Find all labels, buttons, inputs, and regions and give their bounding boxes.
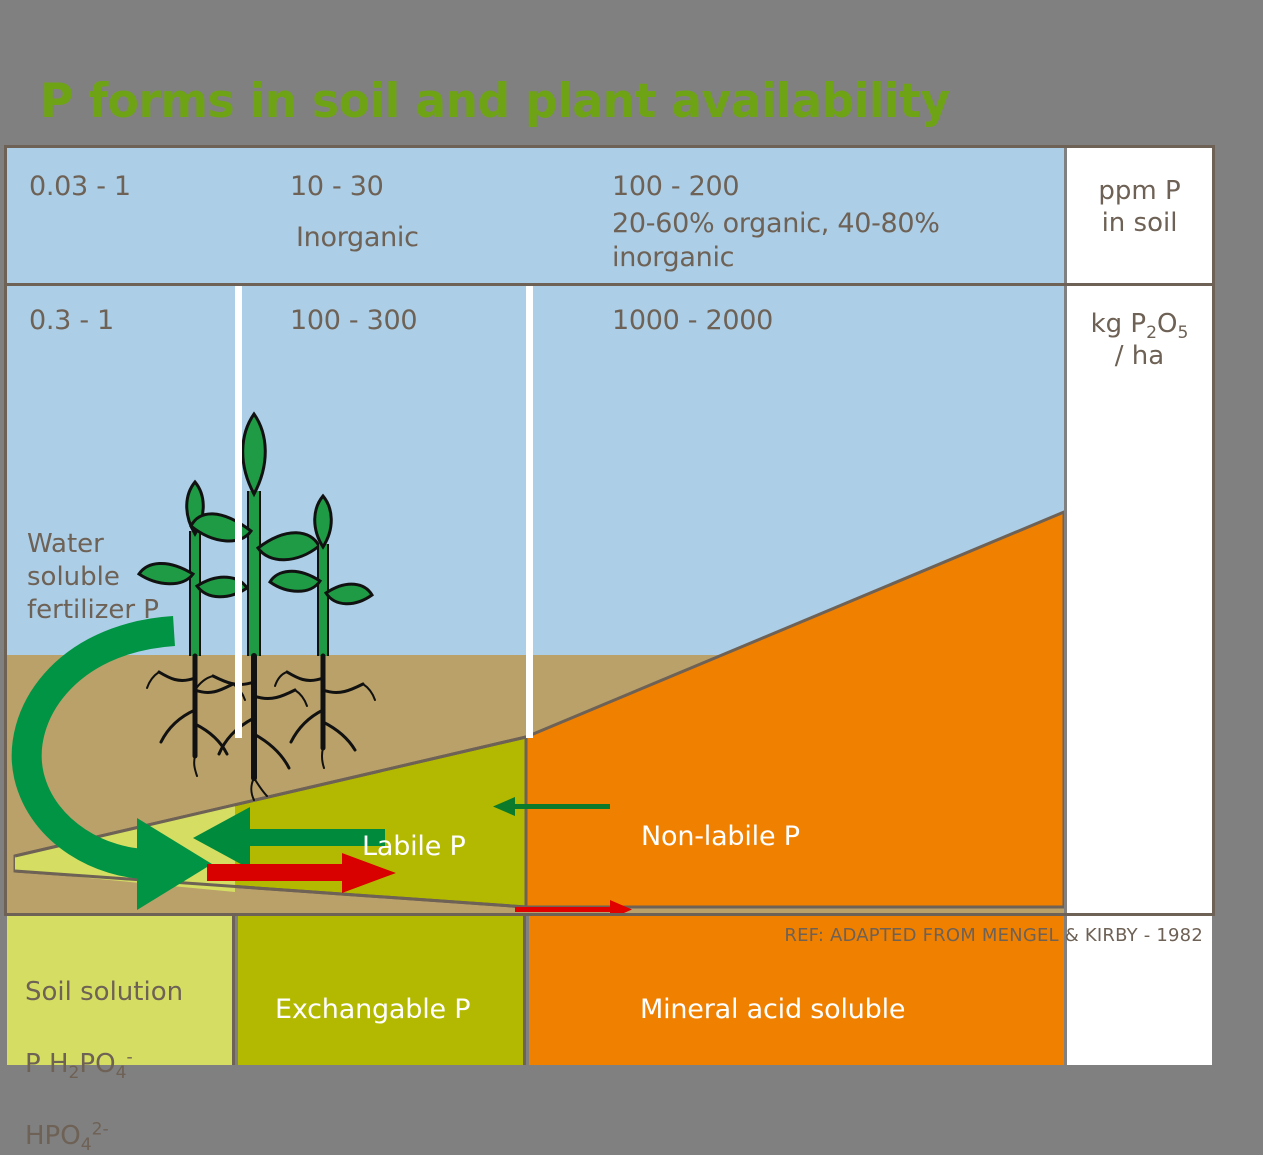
fertilizer-label: Water soluble fertilizer P	[27, 528, 159, 627]
kg-unit-line2: / ha	[1115, 341, 1164, 371]
kg-unit-line1: kg P2O5	[1091, 309, 1189, 339]
kg-value-col1: 0.3 - 1	[29, 304, 114, 338]
legend-soil-solution-label: Soil solution P H2PO4- HPO42-	[25, 938, 183, 1154]
ppm-unit-label: ppm P in soil	[1067, 175, 1212, 239]
legend-exchangable-label: Exchangable P	[275, 994, 470, 1025]
ppm-value-col2: 10 - 30	[290, 170, 384, 204]
diagram-canvas: 0.3 - 1 100 - 300 1000 - 2000 Water solu…	[7, 286, 1064, 913]
soil-profile-illustration	[7, 286, 1064, 913]
divider-col1-col2	[235, 286, 242, 738]
kg-value-col3: 1000 - 2000	[612, 304, 773, 338]
row-kg-unit-cell	[1067, 286, 1212, 913]
divider-col2-col3	[526, 286, 533, 738]
page-title: P forms in soil and plant availability	[40, 72, 1107, 132]
ppm-sublabel-col2: Inorganic	[296, 221, 419, 255]
labile-label: Labile P	[362, 831, 466, 862]
ppm-value-col3: 100 - 200	[612, 170, 739, 204]
kg-unit-label: kg P2O5 / ha	[1067, 308, 1212, 372]
ppm-sublabel-col3: 20-60% organic, 40-80% inorganic	[612, 207, 940, 275]
diagram-frame: 0.03 - 1 10 - 30 Inorganic 100 - 200 20-…	[4, 145, 1215, 916]
kg-value-col2: 100 - 300	[290, 304, 417, 338]
non-labile-label: Non-labile P	[641, 821, 800, 852]
reference-note: REF: ADAPTED FROM MENGEL & KIRBY - 1982	[0, 925, 1211, 946]
ppm-value-col1: 0.03 - 1	[29, 170, 131, 204]
legend-mineral-label: Mineral acid soluble	[640, 994, 905, 1025]
